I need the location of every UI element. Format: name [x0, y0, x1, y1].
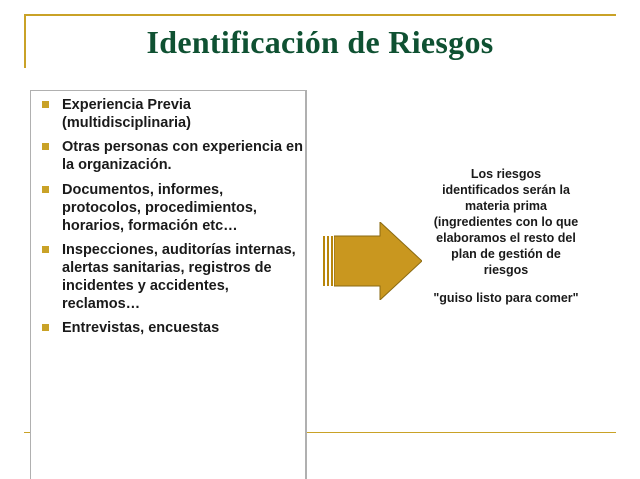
list-item: Entrevistas, encuestas: [36, 319, 304, 337]
list-item-label: Experiencia Previa (multidisciplinaria): [62, 97, 191, 131]
bullet-square-icon: [42, 324, 49, 331]
arrow-graphic: [322, 222, 422, 300]
list-item: Documentos, informes, protocolos, proced…: [36, 181, 304, 235]
list-item: Experiencia Previa (multidisciplinaria): [36, 96, 304, 132]
list-item-label: Entrevistas, encuestas: [62, 320, 219, 336]
bullet-list: Experiencia Previa (multidisciplinaria) …: [36, 96, 304, 344]
vertical-divider: [306, 90, 307, 479]
list-item: Inspecciones, auditorías internas, alert…: [36, 241, 304, 314]
list-item-label: Inspecciones, auditorías internas, alert…: [62, 242, 296, 312]
page-title: Identificación de Riesgos: [0, 24, 640, 61]
right-paragraph-1: Los riesgos identificados serán la mater…: [432, 166, 580, 278]
bullet-square-icon: [42, 101, 49, 108]
list-item: Otras personas con experiencia en la org…: [36, 138, 304, 174]
right-text-block: Los riesgos identificados serán la mater…: [432, 166, 580, 306]
right-arrow-icon: [334, 222, 422, 300]
list-item-label: Documentos, informes, protocolos, proced…: [62, 182, 257, 234]
list-item-label: Otras personas con experiencia en la org…: [62, 139, 303, 173]
bullet-square-icon: [42, 246, 49, 253]
bullet-square-icon: [42, 143, 49, 150]
top-decorative-rule: [24, 14, 616, 16]
bullet-square-icon: [42, 186, 49, 193]
right-paragraph-2: "guiso listo para comer": [432, 290, 580, 306]
